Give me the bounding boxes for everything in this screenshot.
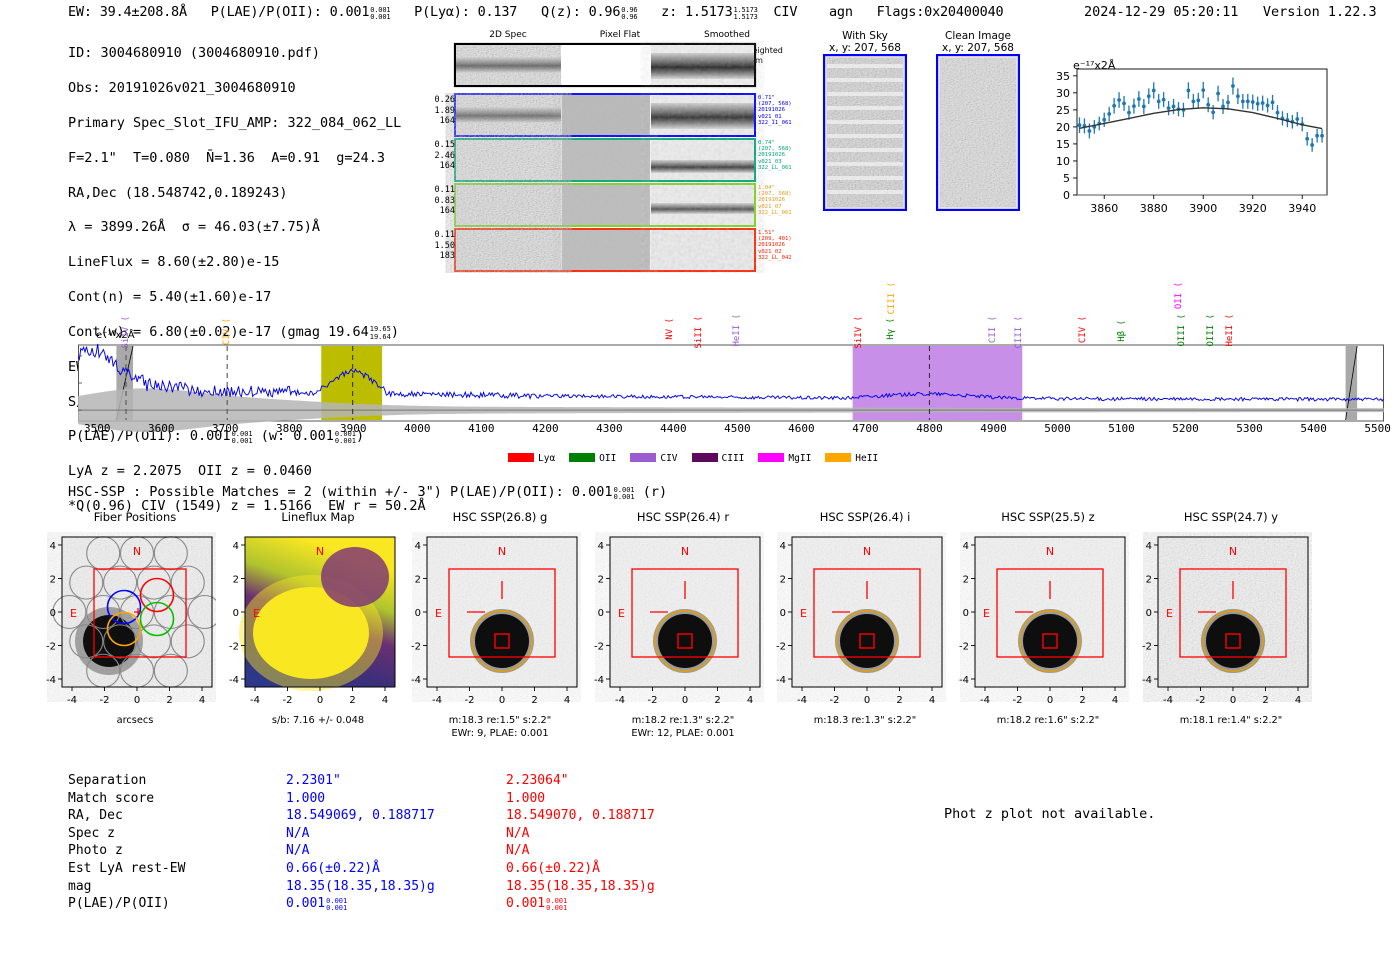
match-table-value: N/A [286,842,435,860]
cutout-image: 420-2-4-4-2024NE [951,532,1129,712]
spectrum-xtick: 4300 [596,422,623,435]
spectrum-xtick: 3900 [340,422,367,435]
emission-line-label: NV ( [665,318,675,340]
svg-text:2: 2 [714,695,720,706]
clean-image-title: Clean Image [930,30,1026,42]
strip-0-side-label: 0.71" (207, 568) 20191026 v021_01 322_11… [758,95,792,126]
svg-text:0: 0 [682,695,688,706]
emission-line-label: OIII ( [1177,314,1187,347]
match-table-column-blue: 2.2301"1.00018.549069, 0.188717N/AN/A0.6… [286,772,435,913]
spec2d-strip-row-2: 0.11 0.83 164 1.04" (207, 568) 20191026 … [425,183,805,232]
spec2d-block: 2D Spec Pixel Flat Smoothed Weighted Sum… [425,30,805,260]
svg-text:2: 2 [780,575,786,586]
cutout-image: 420-2-4-4-2024NE [38,532,216,712]
svg-text:30: 30 [1056,87,1070,100]
emission-line-label: CIV ( [1078,316,1088,343]
svg-text:4: 4 [963,541,969,552]
svg-text:-2: -2 [411,642,421,653]
match-table-column-red: 2.23064"1.00018.549070, 0.188717N/AN/A0.… [506,772,655,913]
cutout-caption-2: EWr: 9, PLAE: 0.001 [425,728,575,739]
match-table-value: 18.35(18.35,18.35)g [286,878,435,896]
header-classification: agn [829,4,853,20]
svg-text:E: E [253,607,260,620]
svg-text:10: 10 [1056,155,1070,168]
cutout-caption-1: m:18.1 re:1.4" s:2.2" [1156,715,1306,726]
hscssp-headline-post: (r) [635,484,668,500]
svg-text:4: 4 [1112,695,1118,706]
spec2d-title-pixelflat: Pixel Flat [565,30,675,40]
match-table-value: 2.2301" [286,772,435,790]
svg-text:-4: -4 [1142,675,1152,686]
legend-item: CIV [630,453,677,464]
spectrum-xtick: 4100 [468,422,495,435]
header-flags: Flags:0x20400040 [877,4,1004,20]
svg-text:2: 2 [233,575,239,586]
emission-line-label: HeII ( [1225,314,1235,347]
strip-3-leftnums: 0.11 1.50 183 [415,230,455,262]
emission-line-label: Hγ ( [886,318,896,340]
cutout-caption-1: arcsecs [60,715,210,726]
spectrum-xtick: 3500 [84,422,111,435]
svg-text:2: 2 [50,575,56,586]
svg-text:4: 4 [382,695,388,706]
cutout-image: 420-2-4-4-2024NE [221,532,399,712]
legend-swatch [825,453,851,462]
svg-text:35: 35 [1056,70,1070,83]
svg-text:0: 0 [317,695,323,706]
svg-text:0: 0 [1146,608,1152,619]
match-table-value: N/A [506,842,655,860]
svg-text:0: 0 [134,695,140,706]
svg-text:-4: -4 [959,675,969,686]
svg-text:3880: 3880 [1140,202,1168,215]
svg-text:2: 2 [415,575,421,586]
svg-text:E: E [70,607,77,620]
cutout-with-sky: With Sky x, y: 207, 568 [820,30,910,215]
match-table-value: N/A [286,825,435,843]
svg-text:N: N [681,545,689,558]
spectrum-xtick: 3800 [276,422,303,435]
svg-text:4: 4 [1146,541,1152,552]
svg-text:-2: -2 [1142,642,1152,653]
svg-text:-2: -2 [776,642,786,653]
spectrum-xtick: 4600 [788,422,815,435]
svg-text:2: 2 [963,575,969,586]
svg-text:4: 4 [1295,695,1301,706]
svg-text:N: N [863,545,871,558]
svg-text:N: N [316,545,324,558]
svg-text:0: 0 [780,608,786,619]
svg-text:2: 2 [1079,695,1085,706]
spectrum-xtick: 3600 [148,422,175,435]
svg-text:2: 2 [598,575,604,586]
full-spectrum-plot: 02040 e⁻¹⁷x2Å SiIV (CIV (NV (SiII (HeII … [78,270,1384,470]
cutout-caption-1: m:18.2 re:1.3" s:2.2" [608,715,758,726]
spectrum-xtick: 4400 [660,422,687,435]
legend-swatch [630,453,656,462]
cutout-image: 420-2-4-4-2024NE [768,532,946,712]
emission-line-label: CIII ( [887,282,897,315]
svg-text:4: 4 [929,695,935,706]
svg-text:0: 0 [1063,189,1070,202]
line-fit-plot: 0510152025303538603880390039203940 e⁻¹⁷x… [1035,55,1335,230]
svg-text:-2: -2 [1013,695,1023,706]
clean-image-canvas [936,54,1020,211]
legend-item: MgII [758,453,811,464]
legend-label: MgII [788,453,811,464]
spectrum-xtick: 5300 [1236,422,1263,435]
svg-text:4: 4 [199,695,205,706]
legend-label: HeII [855,453,878,464]
strip-2-image [425,183,805,228]
cutout-title: Lineflux Map [243,510,393,524]
svg-text:-2: -2 [283,695,293,706]
spec2d-strip-row-1: 0.15 2.46 164 0.74" (207, 568) 20191026 … [425,138,805,187]
match-plae-lo: 0.001 [546,904,567,912]
header-plae-label: P(LAE)/P(OII): 0.001 [211,4,370,20]
cutout-clean-image: Clean Image x, y: 207, 568 [930,30,1026,215]
spec2d-title-smoothed: Smoothed [677,30,777,40]
cutout-title: Fiber Positions [60,510,210,524]
svg-text:-2: -2 [959,642,969,653]
match-table-label: RA, Dec [68,807,185,825]
svg-text:20: 20 [1056,121,1070,134]
svg-text:-2: -2 [229,642,239,653]
header-line-id: CIV [773,4,797,20]
spectrum-xtick: 4500 [724,422,751,435]
hscssp-headline-pre: HSC-SSP : Possible Matches = 2 (within +… [68,484,613,500]
svg-text:-4: -4 [432,695,442,706]
svg-text:-4: -4 [46,675,56,686]
cutout-caption-2: EWr: 12, PLAE: 0.001 [608,728,758,739]
header-plya: P(Lyα): 0.137 [414,4,517,20]
match-table-value: 2.23064" [506,772,655,790]
spectrum-xtick: 4000 [404,422,431,435]
svg-text:N: N [1229,545,1237,558]
svg-text:2: 2 [1262,695,1268,706]
match-table-labels: SeparationMatch scoreRA, DecSpec zPhoto … [68,772,185,913]
svg-text:-4: -4 [980,695,990,706]
with-sky-coords: x, y: 207, 568 [820,42,910,54]
spectrum-xtick: 5400 [1300,422,1327,435]
with-sky-title: With Sky [820,30,910,42]
header-meta: 2024-12-29 05:20:11 Version 1.22.3 [1084,4,1377,20]
svg-text:4: 4 [747,695,753,706]
svg-text:-4: -4 [1163,695,1173,706]
svg-text:4: 4 [598,541,604,552]
spectrum-xtick: 4800 [916,422,943,435]
spectrum-xtick: 5500 [1364,422,1391,435]
cutout-image: 420-2-4-4-2024NE [403,532,581,712]
header-plae-lo: 0.001 [370,13,390,21]
svg-text:E: E [1166,607,1173,620]
legend-label: CIII [722,453,745,464]
svg-text:2: 2 [166,695,172,706]
svg-text:E: E [435,607,442,620]
svg-text:2: 2 [1146,575,1152,586]
svg-text:-4: -4 [594,675,604,686]
emission-line-label: CII ( [988,316,998,343]
svg-text:15: 15 [1056,138,1070,151]
cutout-caption-1: m:18.3 re:1.3" s:2.2" [790,715,940,726]
svg-text:E: E [800,607,807,620]
svg-text:0: 0 [963,608,969,619]
strip-1-image [425,138,805,183]
line-fit-canvas: 0510152025303538603880390039203940 [1035,55,1335,230]
svg-text:-4: -4 [615,695,625,706]
spectrum-xtick: 5000 [1044,422,1071,435]
strip-1-leftnums: 0.15 2.46 164 [415,140,455,172]
svg-text:N: N [498,545,506,558]
info-id: ID: 3004680910 (3004680910.pdf) [68,45,426,62]
svg-text:-4: -4 [67,695,77,706]
header-z-lo: 1.5173 [734,13,758,21]
info-radec: RA,Dec (18.548742,0.189243) [68,185,426,202]
cutout-caption-1: s/b: 7.16 +/- 0.048 [243,715,393,726]
svg-text:3900: 3900 [1189,202,1217,215]
match-table-value: 18.549070, 0.188717 [506,807,655,825]
emission-line-label: OIII ( [1206,314,1216,347]
hscssp-headline-lo: 0.001 [614,493,635,501]
hscssp-headline: HSC-SSP : Possible Matches = 2 (within +… [68,484,667,502]
match-table-value: 0.0010.0010.001 [506,895,655,913]
spectrum-xtick: 4700 [852,422,879,435]
cutout-title: HSC SSP(25.5) z [973,510,1123,524]
info-lambda: λ = 3899.26Å σ = 46.03(±7.75)Å [68,219,426,236]
cutout-panel-5[interactable]: HSC SSP(25.5) z420-2-4-4-2024NEm:18.2 re… [973,510,1123,524]
svg-text:0: 0 [499,695,505,706]
match-table-label: Photo z [68,842,185,860]
legend-item: OII [569,453,616,464]
cutout-title: HSC SSP(26.4) r [608,510,758,524]
svg-text:4: 4 [415,541,421,552]
strip-0-leftnums: 0.26 1.89 164 [415,95,455,127]
cutout-panel-6[interactable]: HSC SSP(24.7) y420-2-4-4-2024NEm:18.1 re… [1156,510,1306,524]
clean-image-coords: x, y: 207, 568 [930,42,1026,54]
cutout-panel-0[interactable]: Fiber Positions420-2-4-4-2024NEarcsecs [60,510,210,524]
match-plae-lo: 0.001 [326,904,347,912]
svg-text:N: N [1046,545,1054,558]
match-table-value: N/A [506,825,655,843]
svg-text:N: N [133,545,141,558]
emission-line-label: OII ( [1174,282,1184,309]
svg-text:0: 0 [50,608,56,619]
spectrum-xtick: 5100 [1108,422,1135,435]
cutout-image: 420-2-4-4-2024NE [1134,532,1312,712]
legend-swatch [508,453,534,462]
match-table-label: Match score [68,790,185,808]
match-table-value: 0.66(±0.22)Å [506,860,655,878]
svg-text:-2: -2 [100,695,110,706]
strip-3-image [425,228,805,273]
svg-text:4: 4 [564,695,570,706]
svg-text:0: 0 [864,695,870,706]
match-plae-value: 0.001 [506,896,545,911]
svg-text:-4: -4 [250,695,260,706]
match-table-value: 1.000 [286,790,435,808]
cutout-image: 420-2-4-4-2024NE [586,532,764,712]
legend-item: CIII [692,453,745,464]
svg-text:0: 0 [415,608,421,619]
svg-text:-2: -2 [1196,695,1206,706]
cutout-title: HSC SSP(24.7) y [1156,510,1306,524]
svg-text:-2: -2 [46,642,56,653]
match-table-value: 0.66(±0.22)Å [286,860,435,878]
legend-item: HeII [825,453,878,464]
info-obs: Obs: 20191026v021_3004680910 [68,80,426,97]
info-seeing: F=2.1" T=0.080 N̄=1.36 A=0.91 g=24.3 [68,150,426,167]
legend-swatch [692,453,718,462]
cutout-panel-4[interactable]: HSC SSP(26.4) i420-2-4-4-2024NEm:18.3 re… [790,510,940,524]
emission-line-label: SiIV ( [854,316,864,349]
svg-text:-2: -2 [465,695,475,706]
spectrum-xtick: 5200 [1172,422,1199,435]
match-table-value: 18.549069, 0.188717 [286,807,435,825]
header-summary: EW: 39.4±208.8Å P(LAE)/P(OII): 0.0010.00… [68,4,1003,22]
match-table-value: 0.0010.0010.001 [286,895,435,913]
spec2d-strip-row-0: 0.26 1.89 164 0.71" (207, 568) 20191026 … [425,93,805,142]
svg-text:E: E [983,607,990,620]
svg-text:4: 4 [50,541,56,552]
svg-text:0: 0 [233,608,239,619]
header-ew: EW: 39.4±208.8Å [68,4,187,20]
emission-line-label: CIV ( [222,318,232,345]
spectrum-xtick: 4900 [980,422,1007,435]
svg-text:5: 5 [1063,172,1070,185]
emission-line-label: Hβ ( [1117,320,1127,342]
svg-text:0: 0 [598,608,604,619]
with-sky-image [823,54,907,211]
cutout-panel-row: Fiber Positions420-2-4-4-2024NEarcsecsLi… [0,510,1400,740]
legend-label: CIV [660,453,677,464]
match-plae-value: 0.001 [286,896,325,911]
svg-text:0: 0 [1230,695,1236,706]
emission-line-label: CIII ( [1014,316,1024,349]
svg-text:2: 2 [896,695,902,706]
svg-text:-2: -2 [594,642,604,653]
match-table-label: Est LyA rest-EW [68,860,185,878]
cutout-panel-3[interactable]: HSC SSP(26.4) r420-2-4-4-2024NEm:18.2 re… [608,510,758,524]
strip-2-leftnums: 0.11 0.83 164 [415,185,455,217]
svg-text:-4: -4 [229,675,239,686]
match-table-label: P(LAE)/P(OII) [68,895,185,913]
svg-text:3860: 3860 [1090,202,1118,215]
line-fit-annotation: e⁻¹⁷x2Å [1073,59,1115,72]
emission-line-label: SiIV ( [121,316,131,349]
legend-label: Lyα [538,453,555,464]
svg-text:-2: -2 [830,695,840,706]
cutout-caption-1: m:18.2 re:1.6" s:2.2" [973,715,1123,726]
emission-line-label: HeII ( [732,314,742,347]
svg-text:E: E [618,607,625,620]
strip-2-side-label: 1.04" (207, 568) 20191026 v021_07 322_LL… [758,185,792,216]
svg-text:0: 0 [1047,695,1053,706]
info-primary-spec: Primary Spec_Slot_IFU_AMP: 322_084_062_L… [68,115,426,132]
emission-line-labels: SiIV (CIV (NV (SiII (HeII (CIII (SiIV (H… [78,270,1384,350]
emission-line-label: SiII ( [694,316,704,349]
spec2d-title-2dspec: 2D Spec [453,30,563,40]
full-spectrum-legend: LyαOIICIVCIIIMgIIHeII [508,448,892,467]
match-table-value: 18.35(18.35,18.35)g [506,878,655,896]
svg-text:-4: -4 [411,675,421,686]
svg-text:-4: -4 [797,695,807,706]
svg-text:4: 4 [780,541,786,552]
svg-text:3940: 3940 [1288,202,1316,215]
svg-text:4: 4 [233,541,239,552]
spectrum-xtick: 4200 [532,422,559,435]
header-qz-label: Q(z): 0.96 [541,4,620,20]
match-table-label: mag [68,878,185,896]
svg-text:2: 2 [531,695,537,706]
cutout-title: HSC SSP(26.8) g [425,510,575,524]
strip-3-side-label: 1.51" (209, 401) 20191026 v021_02 322_LL… [758,230,792,261]
header-qz-lo: 0.96 [621,13,637,21]
cutout-caption-1: m:18.3 re:1.5" s:2.2" [425,715,575,726]
header-z-label: z: 1.5173 [661,4,732,20]
photz-note: Phot z plot not available. [944,806,1155,822]
spectrum-xtick: 3700 [212,422,239,435]
legend-swatch [758,453,784,462]
cutout-panel-2[interactable]: HSC SSP(26.8) g420-2-4-4-2024NEm:18.3 re… [425,510,575,524]
match-table-label: Separation [68,772,185,790]
match-table-value: 1.000 [506,790,655,808]
svg-text:25: 25 [1056,104,1070,117]
legend-label: OII [599,453,616,464]
header-timestamp: 2024-12-29 05:20:11 [1084,4,1238,20]
strip-1-side-label: 0.74" (207, 568) 20191026 v021_03 322_LL… [758,140,792,171]
svg-text:3920: 3920 [1239,202,1267,215]
cutout-title: HSC SSP(26.4) i [790,510,940,524]
legend-swatch [569,453,595,462]
header-version: Version 1.22.3 [1263,4,1377,20]
match-table-label: Spec z [68,825,185,843]
legend-item: Lyα [508,453,555,464]
svg-text:-2: -2 [648,695,658,706]
svg-text:-4: -4 [776,675,786,686]
svg-text:2: 2 [349,695,355,706]
cutout-panel-1[interactable]: Lineflux Map420-2-4-4-2024NEs/b: 7.16 +/… [243,510,393,524]
strip-0-image [425,93,805,138]
